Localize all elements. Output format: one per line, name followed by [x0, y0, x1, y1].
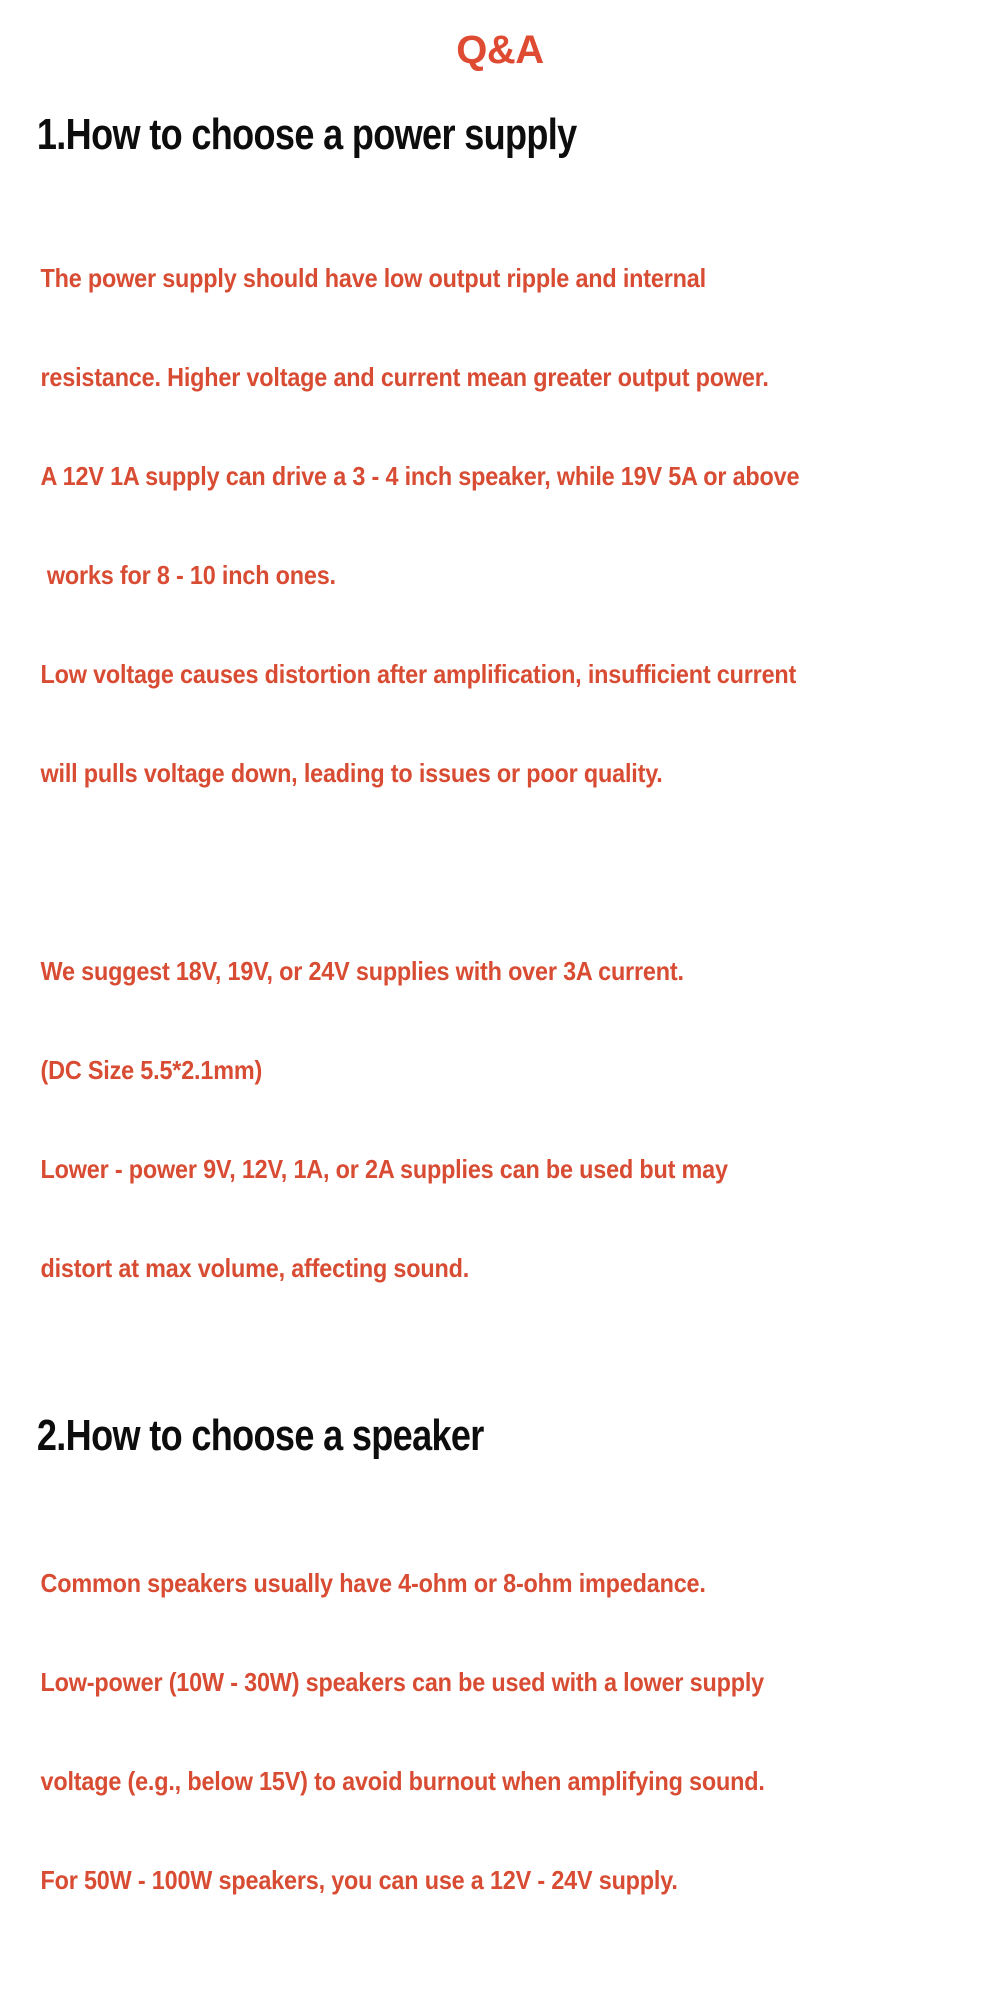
- page-title: Q&A: [0, 0, 1000, 70]
- body-line: (DC Size 5.5*2.1mm): [41, 1054, 901, 1087]
- body-line: Low voltage causes distortion after ampl…: [41, 658, 901, 691]
- body-block-speaker-2: Higher voltage means more output sound a…: [0, 1996, 900, 2000]
- section-heading-power-supply: 1.How to choose a power supply: [0, 112, 820, 158]
- body-line: works for 8 - 10 inch ones.: [41, 559, 901, 592]
- body-line: We suggest 18V, 19V, or 24V supplies wit…: [41, 955, 901, 988]
- body-line: will pulls voltage down, leading to issu…: [41, 757, 901, 790]
- body-line: For 50W - 100W speakers, you can use a 1…: [41, 1864, 901, 1897]
- body-block-power-supply-2: We suggest 18V, 19V, or 24V supplies wit…: [0, 889, 900, 1351]
- body-block-speaker-1: Common speakers usually have 4-ohm or 8-…: [0, 1501, 900, 1963]
- body-line: resistance. Higher voltage and current m…: [41, 361, 901, 394]
- body-line: Common speakers usually have 4-ohm or 8-…: [41, 1567, 901, 1600]
- body-block-power-supply-1: The power supply should have low output …: [0, 196, 900, 856]
- body-line: distort at max volume, affecting sound.: [41, 1252, 901, 1285]
- body-line: Low-power (10W - 30W) speakers can be us…: [41, 1666, 901, 1699]
- qa-page: Q&A 1.How to choose a power supply The p…: [0, 0, 1000, 1000]
- section-heading-speaker: 2.How to choose a speaker: [0, 1413, 820, 1459]
- body-line: The power supply should have low output …: [41, 262, 901, 295]
- body-line: A 12V 1A supply can drive a 3 - 4 inch s…: [41, 460, 901, 493]
- body-line: Lower - power 9V, 12V, 1A, or 2A supplie…: [41, 1153, 901, 1186]
- body-line: voltage (e.g., below 15V) to avoid burno…: [41, 1765, 901, 1798]
